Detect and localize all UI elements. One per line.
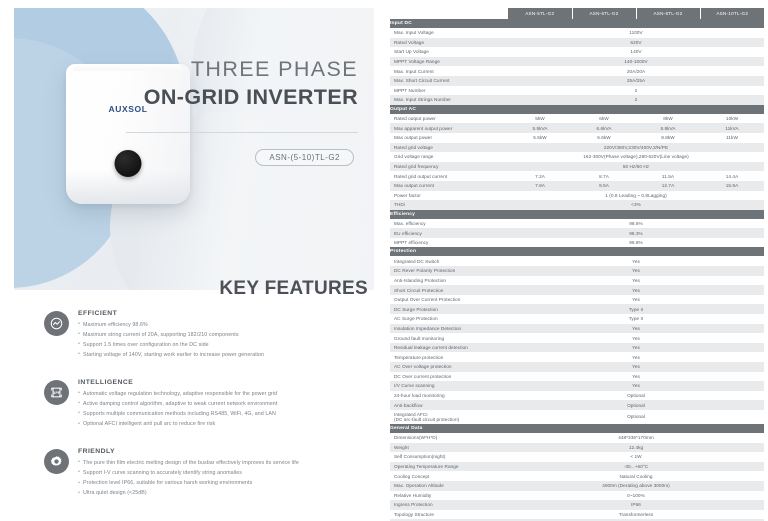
- spec-value-all-models: < 1W: [508, 452, 764, 462]
- spec-value-all-models: 98.3%: [508, 228, 764, 238]
- spec-value: 5.5kVA: [508, 123, 572, 133]
- spec-label: Insulation Impedance Detection: [390, 324, 508, 334]
- spec-label: Self Consumption(night): [390, 452, 508, 462]
- section-title: Input DC: [390, 19, 764, 28]
- hero-title-line1: THREE PHASE: [122, 56, 358, 83]
- spec-label: Max. Input Voltage: [390, 28, 508, 38]
- spec-label: DC Surge Protection: [390, 304, 508, 314]
- table-row: Self Consumption(night)< 1W: [390, 452, 764, 462]
- spec-value: 15.9A: [700, 181, 764, 191]
- list-item: Support 1.5 times over configuration on …: [78, 340, 374, 350]
- spec-value: 11kVA: [700, 123, 764, 133]
- feature-body: EFFICIENT Maximum efficiency 98.6% Maxim…: [78, 310, 374, 360]
- table-row: EU efficiency98.3%: [390, 228, 764, 238]
- spec-value-all-models: 1 (0.8 Leading ~ 0.8Lagging): [508, 191, 764, 201]
- list-item: Maximum efficiency 98.6%: [78, 320, 374, 330]
- spec-label: Dimensions(W*H*D): [390, 433, 508, 443]
- spec-label: Rated grid output current: [390, 171, 508, 181]
- section-title: Output AC: [390, 105, 764, 114]
- spec-value-all-models: Yes: [508, 324, 764, 334]
- section-header-row: Input DC: [390, 19, 764, 28]
- spec-value-all-models: Yes: [508, 372, 764, 382]
- table-row: Max. Input Strings Number2: [390, 95, 764, 105]
- spec-label: Cooling Concept: [390, 471, 508, 481]
- app-icon: APP: [44, 380, 69, 405]
- spec-label: Short Circuit Protection: [390, 285, 508, 295]
- key-features-list: EFFICIENT Maximum efficiency 98.6% Maxim…: [44, 310, 374, 517]
- svg-text:APP: APP: [53, 390, 61, 395]
- spec-value-all-models: Yes: [508, 295, 764, 305]
- spec-label: Ingress Protection: [390, 500, 508, 510]
- spec-value: 7.2A: [508, 171, 572, 181]
- table-row: Rated grid output current7.2A8.7A11.5A14…: [390, 171, 764, 181]
- spec-label-line2: (DC arc-fault circuit protection): [394, 417, 508, 422]
- spec-label: EU efficiency: [390, 228, 508, 238]
- spec-value: 8kW: [636, 114, 700, 124]
- spec-value-all-models: 1100V: [508, 28, 764, 38]
- table-row: I/V Curve scanningYes: [390, 381, 764, 391]
- table-row: Max. Input Voltage1100V: [390, 28, 764, 38]
- spec-label: 24-hour load monitoring: [390, 391, 508, 401]
- column-header-model: ASN-5TL-G2: [508, 8, 572, 19]
- spec-label: Grid voltage range: [390, 152, 508, 162]
- spec-value-all-models: IP66: [508, 500, 764, 510]
- spec-label: Output Over Current Protection: [390, 295, 508, 305]
- table-row: Grid voltage range162-300V(Phase voltage…: [390, 152, 764, 162]
- spec-value-all-models: Type II: [508, 304, 764, 314]
- list-item: Maximum string current of 20A, supportin…: [78, 330, 374, 340]
- table-row: Topology StructureTransformerless: [390, 510, 764, 520]
- spec-value-all-models: Yes: [508, 256, 764, 266]
- hero-title-group: THREE PHASE ON-GRID INVERTER: [122, 56, 358, 112]
- spec-value-all-models: Type II: [508, 314, 764, 324]
- spec-label: Max. Input Current: [390, 66, 508, 76]
- spec-value-all-models: 12.4kg: [508, 443, 764, 453]
- spec-value: 11kW: [700, 133, 764, 143]
- spec-value-all-models: 140-1000V: [508, 57, 764, 67]
- section-header-row: Efficiency: [390, 210, 764, 219]
- spec-value-all-models: 2: [508, 95, 764, 105]
- list-item: Starting voltage of 140V, starting work …: [78, 350, 374, 360]
- feature-bullets: Automatic voltage regulation technology,…: [78, 389, 374, 430]
- spec-value-all-models: 20A/20A: [508, 66, 764, 76]
- table-row: AC Over voltage protectionYes: [390, 362, 764, 372]
- spec-value-all-models: Natural Cooling: [508, 471, 764, 481]
- feature-block-friendly: FRIENDLY The pure thin film electric mel…: [44, 448, 374, 498]
- efficiency-icon: [44, 311, 69, 336]
- spec-label: Rated grid voltage: [390, 143, 508, 153]
- spec-label: Max apparent output power: [390, 123, 508, 133]
- spec-label: Max. efficiency: [390, 219, 508, 229]
- table-row: Insulation Impedance DetectionYes: [390, 324, 764, 334]
- spec-label: Ground fault monitoring: [390, 333, 508, 343]
- table-row: THDi<3%: [390, 200, 764, 210]
- spec-label: Anti-backflow: [390, 400, 508, 410]
- table-row: Max. Input Current20A/20A: [390, 66, 764, 76]
- list-item: Protection level IP66, suitable for vari…: [78, 478, 374, 488]
- table-row: Max apparent output power5.5kVA6.6kVA8.8…: [390, 123, 764, 133]
- spec-value-all-models: 99.8%: [508, 238, 764, 248]
- spec-value-all-models: Yes: [508, 266, 764, 276]
- spec-value-all-models: 25A/25A: [508, 76, 764, 86]
- spec-label: AC Over voltage protection: [390, 362, 508, 372]
- spec-value: 6.6kVA: [572, 123, 636, 133]
- table-row: Rated Voltage620V: [390, 38, 764, 48]
- spec-label: Max. Operation Altitude: [390, 481, 508, 491]
- spec-value-all-models: 0~100%: [508, 491, 764, 501]
- spec-value: 5.5kW: [508, 133, 572, 143]
- spec-value-all-models: <3%: [508, 200, 764, 210]
- header-blank-cell: [390, 8, 508, 19]
- table-row: Anti-backflowOptional: [390, 400, 764, 410]
- spec-label: Operating Temperature Range: [390, 462, 508, 472]
- key-features-heading: KEY FEATURES: [219, 278, 368, 300]
- spec-label: Weight: [390, 443, 508, 453]
- spec-value-all-models: Yes: [508, 362, 764, 372]
- spec-value-all-models: -30...+60°C: [508, 462, 764, 472]
- spec-value: 10kW: [700, 114, 764, 124]
- column-header-model: ASN-10TL-G2: [700, 8, 764, 19]
- table-row: Rated grid frequency50 Hz/60 Hz: [390, 162, 764, 172]
- left-panel: AUXSOL THREE PHASE ON-GRID INVERTER ASN-…: [0, 0, 384, 521]
- spec-value-all-models: Yes: [508, 381, 764, 391]
- list-item: Support I-V curve scanning to accurately…: [78, 468, 374, 478]
- table-row: Operating Temperature Range-30...+60°C: [390, 462, 764, 472]
- spec-label: Rated grid frequency: [390, 162, 508, 172]
- spec-value-all-models: Optional: [508, 391, 764, 401]
- spec-label: DC Rever Polarity Protection: [390, 266, 508, 276]
- column-header-model: ASN-6TL-G2: [572, 8, 636, 19]
- spec-label: Max output current: [390, 181, 508, 191]
- spec-value-all-models: Yes: [508, 285, 764, 295]
- spec-value: 12.7A: [636, 181, 700, 191]
- spec-label: Rated output power: [390, 114, 508, 124]
- spec-value: 11.5A: [636, 171, 700, 181]
- table-row: Cooling ConceptNatural Cooling: [390, 471, 764, 481]
- spec-value: 6.6kW: [572, 133, 636, 143]
- spec-label: MPPT Voltage Range: [390, 57, 508, 67]
- table-row: Weight12.4kg: [390, 443, 764, 453]
- spec-value-all-models: 620V: [508, 38, 764, 48]
- table-row: Rated output power5kW6kW8kW10kW: [390, 114, 764, 124]
- specification-table: ASN-5TL-G2 ASN-6TL-G2 ASN-8TL-G2 ASN-10T…: [390, 8, 764, 521]
- table-row: Max. Short Circuit Current25A/25A: [390, 76, 764, 86]
- table-header: ASN-5TL-G2 ASN-6TL-G2 ASN-8TL-G2 ASN-10T…: [390, 8, 764, 19]
- spec-label: Integrated DC Switch: [390, 256, 508, 266]
- table-row: AC Surge ProtectionType II: [390, 314, 764, 324]
- dc-switch-knob: [115, 150, 142, 177]
- feature-block-efficient: EFFICIENT Maximum efficiency 98.6% Maxim…: [44, 310, 374, 360]
- spec-value-all-models: 2: [508, 86, 764, 96]
- list-item: Active damping control algorithm, adapti…: [78, 399, 374, 409]
- spec-label: Max. Short Circuit Current: [390, 76, 508, 86]
- specification-panel: ASN-5TL-G2 ASN-6TL-G2 ASN-8TL-G2 ASN-10T…: [384, 0, 768, 521]
- section-title: Efficiency: [390, 210, 764, 219]
- spec-value: 5kW: [508, 114, 572, 124]
- spec-label: Rated Voltage: [390, 38, 508, 48]
- table-row: Integrated DC SwitchYes: [390, 256, 764, 266]
- table-row: 24-hour load monitoringOptional: [390, 391, 764, 401]
- hero-title-line2: ON-GRID INVERTER: [122, 84, 358, 112]
- feature-body: INTELLIGENCE Automatic voltage regulatio…: [78, 379, 374, 429]
- spec-value-all-models: Yes: [508, 276, 764, 286]
- spec-label: Relative Humidity: [390, 491, 508, 501]
- table-row: DC Surge ProtectionType II: [390, 304, 764, 314]
- table-row: Start Up Voltage140V: [390, 47, 764, 57]
- table-row: Ground fault monitoringYes: [390, 333, 764, 343]
- list-item: The pure thin film electric melting desi…: [78, 458, 374, 468]
- spec-label: Power factor: [390, 191, 508, 201]
- feature-title: FRIENDLY: [78, 448, 374, 455]
- section-header-row: General Data: [390, 424, 764, 433]
- table-row: DC Over current protectionYes: [390, 372, 764, 382]
- table-row: Temperature protectionYes: [390, 352, 764, 362]
- list-item: Optional AFCI intelligent anti pull arc …: [78, 419, 374, 429]
- table-row: Max output power5.5kW6.6kW8.8kW11kW: [390, 133, 764, 143]
- spec-label: Anti-Islanding Protection: [390, 276, 508, 286]
- table-row: DC Rever Polarity ProtectionYes: [390, 266, 764, 276]
- spec-label: DC Over current protection: [390, 372, 508, 382]
- list-item: Supports multiple communication methods …: [78, 409, 374, 419]
- spec-label: THDi: [390, 200, 508, 210]
- spec-label: Start Up Voltage: [390, 47, 508, 57]
- spec-value-all-models: Transformerless: [508, 510, 764, 520]
- spec-value-all-models: Yes: [508, 333, 764, 343]
- spec-value-all-models: 50 Hz/60 Hz: [508, 162, 764, 172]
- spec-label: Topology Structure: [390, 510, 508, 520]
- spec-label: MPPT efficiency: [390, 238, 508, 248]
- spec-value-all-models: 98.6%: [508, 219, 764, 229]
- table-row: Anti-Islanding ProtectionYes: [390, 276, 764, 286]
- spec-label: MPPT Number: [390, 86, 508, 96]
- spec-label: AC Surge Protection: [390, 314, 508, 324]
- table-row: MPPT Voltage Range140-1000V: [390, 57, 764, 67]
- feature-block-intelligence: APP INTELLIGENCE Automatic voltage regul…: [44, 379, 374, 429]
- table-row: Residual leakage current detectionYes: [390, 343, 764, 353]
- column-header-model: ASN-8TL-G2: [636, 8, 700, 19]
- table-row: Relative Humidity0~100%: [390, 491, 764, 501]
- table-body: Input DCMax. Input Voltage1100VRated Vol…: [390, 19, 764, 521]
- spec-value-all-models: Optional: [508, 400, 764, 410]
- table-row: Ingress ProtectionIP66: [390, 500, 764, 510]
- datasheet-page: AUXSOL THREE PHASE ON-GRID INVERTER ASN-…: [0, 0, 768, 521]
- spec-value-all-models: Optional: [508, 410, 764, 424]
- table-row: Dimensions(W*H*D)448*336*170mm: [390, 433, 764, 443]
- table-row: Output Over Current ProtectionYes: [390, 295, 764, 305]
- table-row: Integrated AFCI(DC arc-fault circuit pro…: [390, 410, 764, 424]
- spec-value: 8.8kW: [636, 133, 700, 143]
- feature-title: EFFICIENT: [78, 310, 374, 317]
- spec-label: I/V Curve scanning: [390, 381, 508, 391]
- feature-bullets: The pure thin film electric melting desi…: [78, 458, 374, 499]
- model-badge: ASN-(5-10)TL-G2: [255, 149, 354, 166]
- table-row: Short Circuit ProtectionYes: [390, 285, 764, 295]
- spec-value: 6kW: [572, 114, 636, 124]
- spec-value-all-models: 140V: [508, 47, 764, 57]
- table-row: Max output current7.9A9.5A12.7A15.9A: [390, 181, 764, 191]
- table-row: Max. Operation Altitude4000m (Derating a…: [390, 481, 764, 491]
- spec-value-all-models: 4000m (Derating above 3000m): [508, 481, 764, 491]
- table-row: Max. efficiency98.6%: [390, 219, 764, 229]
- table-row: Rated grid voltage220V/380V,230V/400V,3/…: [390, 143, 764, 153]
- list-item: Ultra quiet design (<25dB): [78, 488, 374, 498]
- feature-bullets: Maximum efficiency 98.6% Maximum string …: [78, 320, 374, 361]
- section-title: General Data: [390, 424, 764, 433]
- table-row: MPPT efficiency99.8%: [390, 238, 764, 248]
- spec-label: Residual leakage current detection: [390, 343, 508, 353]
- gear-icon: [44, 449, 69, 474]
- spec-value-all-models: 220V/380V,230V/400V,3/N/PE: [508, 143, 764, 153]
- spec-value-all-models: 162-300V(Phase voltage),280-520V(Line vo…: [508, 152, 764, 162]
- table-row: Power factor1 (0.8 Leading ~ 0.8Lagging): [390, 191, 764, 201]
- spec-value-all-models: Yes: [508, 352, 764, 362]
- spec-label: Temperature protection: [390, 352, 508, 362]
- feature-title: INTELLIGENCE: [78, 379, 374, 386]
- spec-value: 9.5A: [572, 181, 636, 191]
- spec-label: Integrated AFCI(DC arc-fault circuit pro…: [390, 410, 508, 424]
- section-title: Protection: [390, 247, 764, 256]
- spec-value: 8.8kVA: [636, 123, 700, 133]
- spec-value: 14.4A: [700, 171, 764, 181]
- table-row: MPPT Number2: [390, 86, 764, 96]
- spec-value: 7.9A: [508, 181, 572, 191]
- spec-value: 8.7A: [572, 171, 636, 181]
- table-header-row: ASN-5TL-G2 ASN-6TL-G2 ASN-8TL-G2 ASN-10T…: [390, 8, 764, 19]
- section-header-row: Output AC: [390, 105, 764, 114]
- feature-body: FRIENDLY The pure thin film electric mel…: [78, 448, 374, 498]
- spec-label: Max output power: [390, 133, 508, 143]
- list-item: Automatic voltage regulation technology,…: [78, 389, 374, 399]
- spec-value-all-models: 448*336*170mm: [508, 433, 764, 443]
- section-header-row: Protection: [390, 247, 764, 256]
- spec-value-all-models: Yes: [508, 343, 764, 353]
- spec-label: Max. Input Strings Number: [390, 95, 508, 105]
- hero-banner: AUXSOL THREE PHASE ON-GRID INVERTER ASN-…: [14, 8, 374, 290]
- hero-divider: [126, 132, 358, 133]
